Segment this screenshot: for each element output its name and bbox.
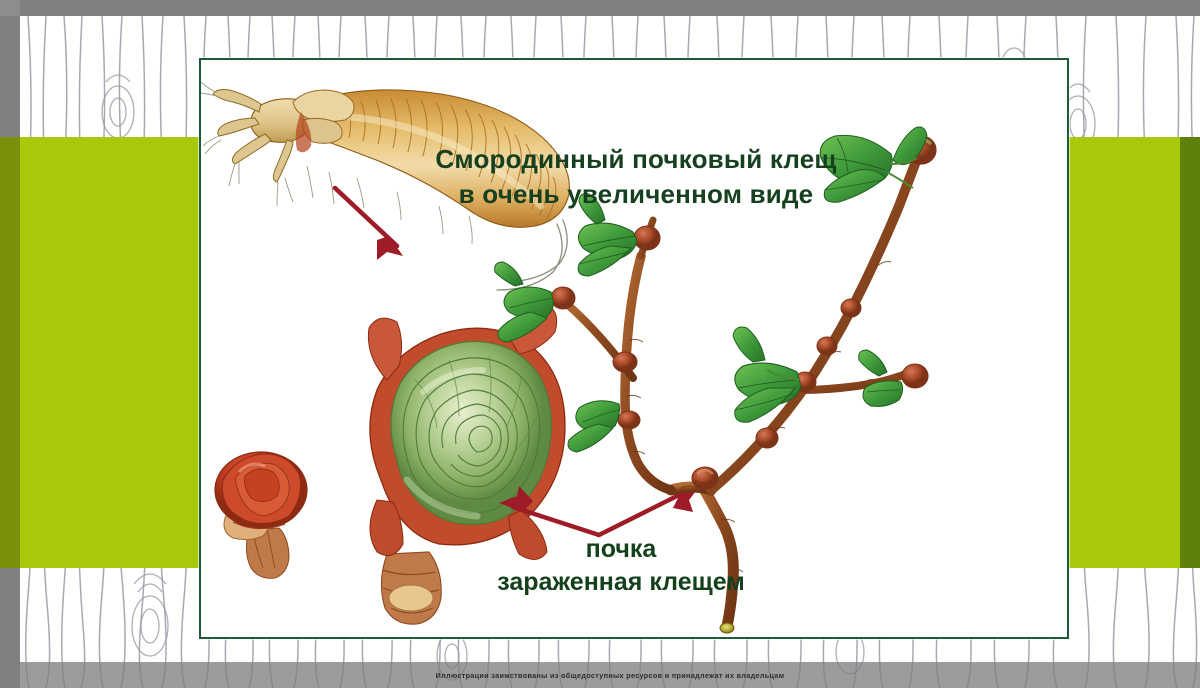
infected-bud-caption: почка зараженная клещем	[411, 533, 831, 598]
branch-bud	[618, 411, 640, 429]
slide-root: Смородинный почковый клещ в очень увелич…	[0, 0, 1200, 688]
frame-corner-bevel	[0, 0, 20, 16]
figure-healthy-bud	[215, 452, 307, 578]
leaf-cluster	[568, 401, 620, 452]
page-title: Смородинный почковый клещ в очень увелич…	[201, 108, 1067, 245]
watermark-bar: Иллюстрации заимствованы из общедоступны…	[20, 662, 1200, 688]
caption-line-1: почка	[586, 535, 657, 563]
watermark-text: Иллюстрации заимствованы из общедоступны…	[20, 662, 1200, 688]
green-band-right-shadow	[1180, 137, 1200, 568]
branch-bud	[817, 337, 837, 355]
branch-bud	[902, 364, 928, 388]
caption-line-2: зараженная клещем	[411, 566, 831, 599]
frame-top-strip	[0, 0, 1200, 16]
branch-bud	[613, 352, 637, 372]
green-band-left-overlay	[0, 137, 20, 568]
title-line-2: в очень увеличенном виде	[201, 177, 1067, 211]
illustration-canvas: Смородинный почковый клещ в очень увелич…	[201, 60, 1067, 637]
branch-bud	[551, 287, 575, 309]
branch-bud	[692, 467, 718, 489]
branch-bud	[841, 299, 861, 317]
illustration-panel: Смородинный почковый клещ в очень увелич…	[199, 58, 1069, 639]
branch-bud	[756, 428, 778, 448]
title-line-1: Смородинный почковый клещ	[435, 144, 836, 174]
